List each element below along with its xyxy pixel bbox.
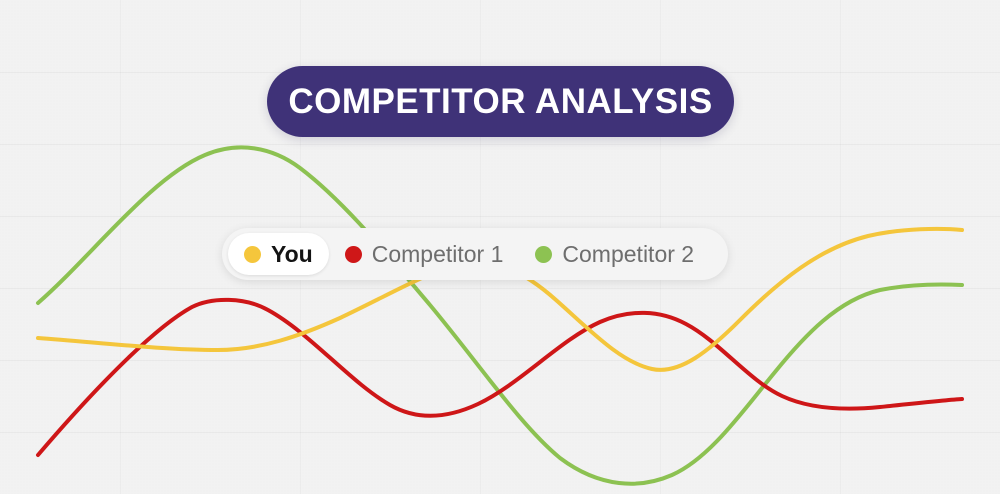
legend-dot-competitor-1 (345, 246, 362, 263)
legend-dot-you (244, 246, 261, 263)
legend-item-competitor-1[interactable]: Competitor 1 (329, 233, 520, 275)
legend-label-competitor-2: Competitor 2 (562, 243, 694, 266)
chart-legend: You Competitor 1 Competitor 2 (222, 228, 728, 280)
legend-dot-competitor-2 (535, 246, 552, 263)
legend-item-competitor-2[interactable]: Competitor 2 (519, 233, 710, 275)
legend-label-you: You (271, 243, 313, 266)
legend-label-competitor-1: Competitor 1 (372, 243, 504, 266)
chart-canvas: COMPETITOR ANALYSIS You Competitor 1 Com… (0, 0, 1000, 494)
chart-title-pill: COMPETITOR ANALYSIS (267, 66, 734, 137)
page-title: COMPETITOR ANALYSIS (288, 84, 712, 119)
legend-item-you[interactable]: You (228, 233, 329, 275)
